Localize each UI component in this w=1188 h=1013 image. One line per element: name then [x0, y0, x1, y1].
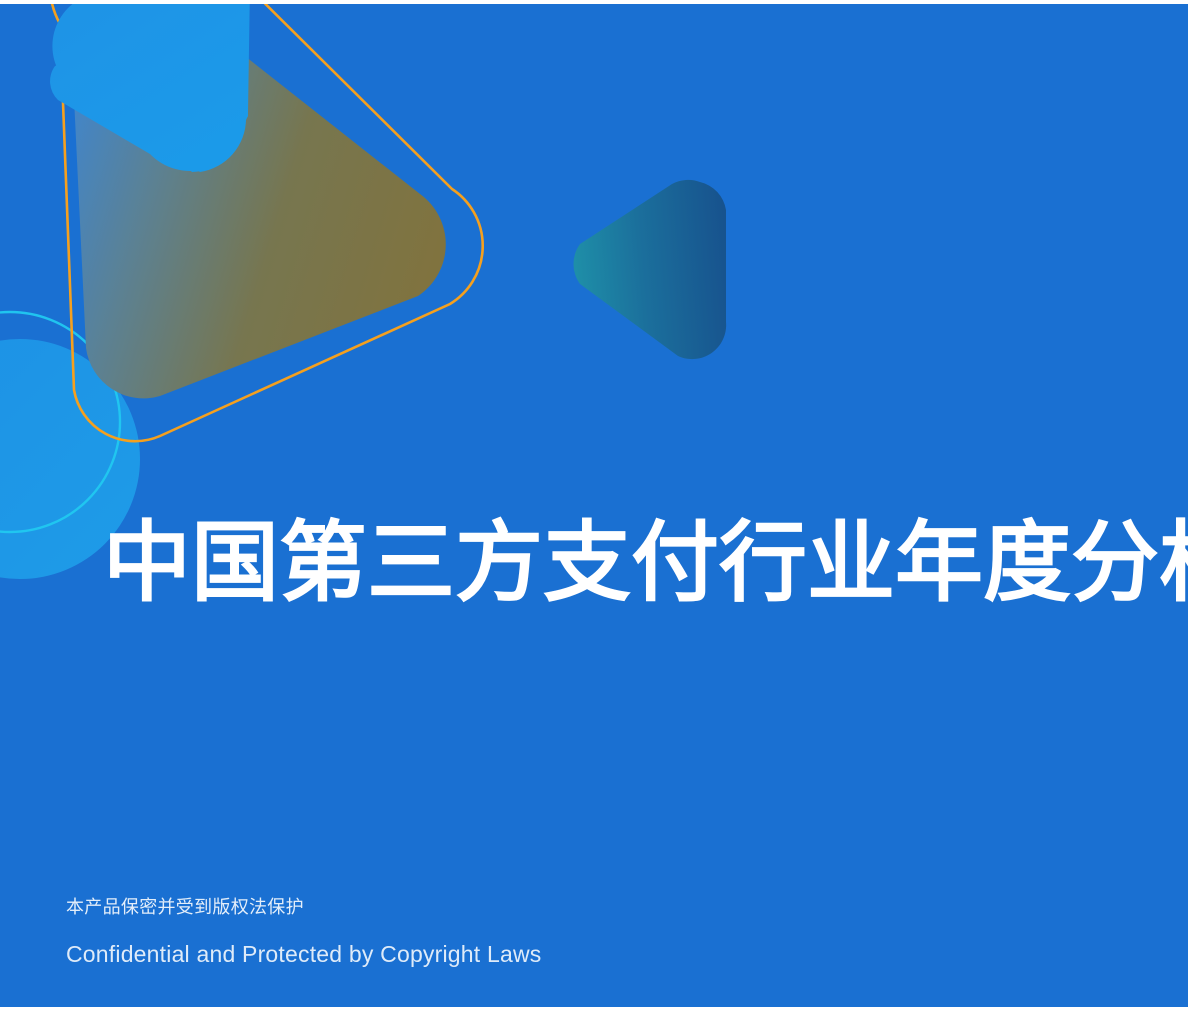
page-title: 中国第三方支付行业年度分析 — [103, 515, 1188, 610]
footer-notice: 本产品保密并受到版权法保护 Confidential and Protected… — [66, 894, 766, 969]
footer-line-cn: 本产品保密并受到版权法保护 — [66, 894, 766, 921]
title-slide: 中国第三方支付行业年度分析 本产品保密并受到版权法保护 Confidential… — [0, 0, 1188, 1013]
slide-canvas: 中国第三方支付行业年度分析 本产品保密并受到版权法保护 Confidential… — [0, 4, 1188, 1007]
footer-line-en: Confidential and Protected by Copyright … — [66, 941, 766, 969]
decorative-shapes — [0, 4, 1188, 1007]
dark-blue-left-triangle — [573, 180, 726, 359]
